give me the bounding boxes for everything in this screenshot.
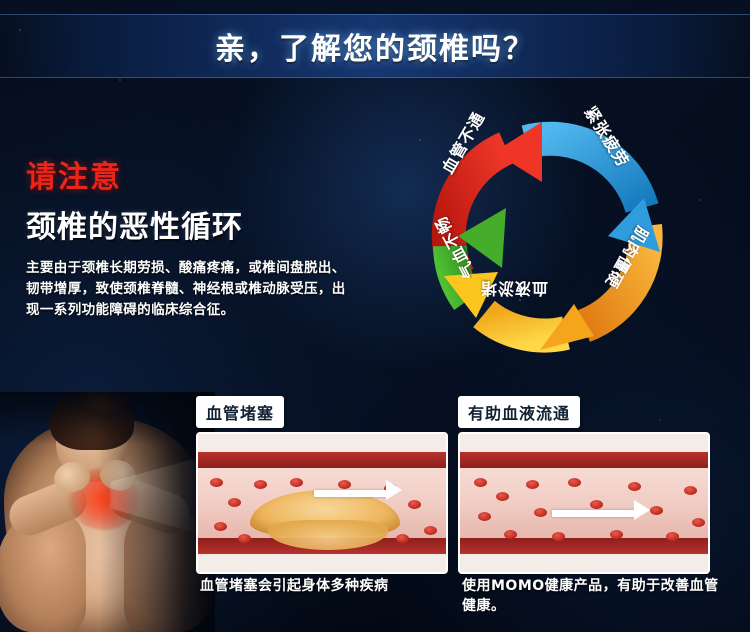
cycle-label-blood-stasis: 血液淤堵 xyxy=(480,278,548,302)
red-blood-cell xyxy=(666,532,679,541)
promo-banner: 亲，了解您的颈椎吗？ 请注意 颈椎的恶性循环 主要由于颈椎长期劳损、酸痛疼痛，或… xyxy=(0,0,750,632)
badge-flowing-vessel: 有助血液流通 xyxy=(458,396,580,428)
red-blood-cell xyxy=(478,512,491,521)
red-blood-cell xyxy=(424,526,437,535)
header-bar: 亲，了解您的颈椎吗？ xyxy=(0,14,750,78)
vicious-cycle-diagram: 血管不通 紧张疲劳 肌肉僵硬 血液淤堵 气血不畅 xyxy=(398,86,698,376)
attention-body-text: 主要由于颈椎长期劳损、酸痛疼痛，或椎间盘脱出、韧带增厚，致使颈椎脊髓、神经根或椎… xyxy=(26,258,356,321)
red-blood-cell xyxy=(552,532,565,541)
red-blood-cell xyxy=(526,480,539,489)
red-blood-cell xyxy=(568,478,581,487)
red-blood-cell xyxy=(628,482,641,491)
vessel-bg-bottom xyxy=(198,554,446,572)
red-blood-cell xyxy=(238,534,251,543)
red-blood-cell xyxy=(338,480,351,489)
red-blood-cell xyxy=(228,498,241,507)
flow-arrow-shaft xyxy=(314,490,388,497)
red-blood-cell xyxy=(214,522,227,531)
red-blood-cell xyxy=(650,506,663,515)
vessel-panel-blocked xyxy=(196,432,448,574)
attention-heading: 请注意 xyxy=(26,152,366,196)
vessel-bg-bottom xyxy=(460,554,708,572)
vessel-wall-top xyxy=(460,452,708,468)
red-blood-cell xyxy=(210,478,223,487)
red-blood-cell xyxy=(408,500,421,509)
red-blood-cell xyxy=(474,478,487,487)
attention-block: 请注意 颈椎的恶性循环 主要由于颈椎长期劳损、酸痛疼痛，或椎间盘脱出、韧带增厚，… xyxy=(26,152,366,321)
red-blood-cell xyxy=(692,518,705,527)
vessel-illustration-flowing xyxy=(460,434,708,572)
vessel-bg-top xyxy=(460,434,708,452)
vessel-illustration-blocked xyxy=(198,434,446,572)
flow-arrow-shaft xyxy=(552,510,636,517)
vessel-panel-flowing xyxy=(458,432,710,574)
flow-arrow-head xyxy=(386,480,402,500)
caption-blocked: 血管堵塞会引起身体多种疾病 xyxy=(200,576,450,596)
attention-subheading: 颈椎的恶性循环 xyxy=(26,202,366,246)
vessel-lumen xyxy=(460,468,708,538)
badge-blocked-vessel: 血管堵塞 xyxy=(196,396,284,428)
vessel-wall-top xyxy=(198,452,446,468)
red-blood-cell xyxy=(290,478,303,487)
red-blood-cell xyxy=(254,480,267,489)
red-blood-cell xyxy=(684,486,697,495)
red-blood-cell xyxy=(496,492,509,501)
red-blood-cell xyxy=(610,530,623,539)
vessel-bg-top xyxy=(198,434,446,452)
red-blood-cell xyxy=(504,530,517,539)
caption-flowing: 使用MOMO健康产品，有助于改善血管健康。 xyxy=(462,576,724,616)
flow-arrow-head xyxy=(634,500,650,520)
red-blood-cell xyxy=(534,508,547,517)
red-blood-cell xyxy=(590,500,603,509)
page-title: 亲，了解您的颈椎吗？ xyxy=(215,24,535,68)
red-blood-cell xyxy=(396,534,409,543)
